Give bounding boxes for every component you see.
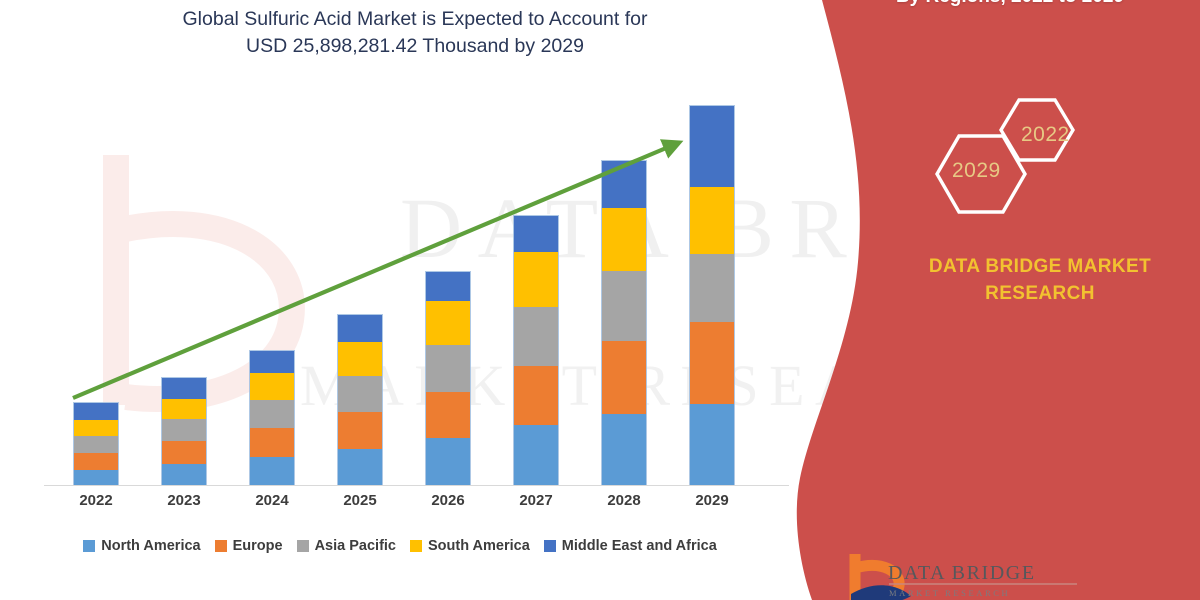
bar-2029 — [689, 105, 735, 485]
bar-segment-europe — [514, 366, 558, 425]
x-label-2025: 2025 — [320, 492, 400, 509]
legend-label: Middle East and Africa — [562, 538, 717, 554]
bar-segment-middle-east-and-africa — [74, 403, 118, 420]
bar-segment-asia-pacific — [250, 400, 294, 429]
bar-2024 — [249, 350, 295, 485]
legend-item-europe[interactable]: Europe — [215, 538, 283, 554]
x-label-2027: 2027 — [496, 492, 576, 509]
legend-label: Asia Pacific — [315, 538, 396, 554]
bar-2026 — [425, 271, 471, 485]
bar-segment-middle-east-and-africa — [426, 272, 470, 301]
hexagon-2022-label: 2022 — [1021, 123, 1070, 147]
legend-swatch-icon — [297, 540, 309, 552]
bar-segment-asia-pacific — [514, 307, 558, 366]
legend-swatch-icon — [83, 540, 95, 552]
legend-swatch-icon — [544, 540, 556, 552]
legend-swatch-icon — [215, 540, 227, 552]
bar-segment-north-america — [162, 464, 206, 485]
bar-segment-asia-pacific — [74, 436, 118, 453]
bar-segment-europe — [250, 428, 294, 457]
x-axis-labels: 20222023202420252026202720282029 — [0, 492, 800, 518]
bar-2028 — [601, 160, 647, 485]
x-label-2029: 2029 — [672, 492, 752, 509]
x-label-2022: 2022 — [56, 492, 136, 509]
bar-segment-south-america — [690, 187, 734, 255]
bar-2023 — [161, 377, 207, 485]
bar-segment-europe — [162, 441, 206, 463]
bar-segment-middle-east-and-africa — [162, 378, 206, 398]
market-report-infographic: DATA BRIDGE MARKET RESEARCH Global Sulfu… — [0, 0, 1200, 600]
x-label-2026: 2026 — [408, 492, 488, 509]
hexagon-badges: 2022 2029 — [925, 96, 1110, 226]
bar-segment-middle-east-and-africa — [514, 216, 558, 252]
page-title-line-1: Global Sulfuric Acid Market is Expected … — [70, 6, 760, 33]
bar-segment-south-america — [514, 252, 558, 307]
bar-segment-north-america — [514, 425, 558, 485]
x-label-2028: 2028 — [584, 492, 664, 509]
bar-2027 — [513, 215, 559, 485]
legend-label: North America — [101, 538, 200, 554]
stacked-bar-chart — [0, 100, 800, 490]
bar-segment-south-america — [338, 342, 382, 376]
panel-title: By Regions, 2022 to 2029 — [820, 0, 1200, 10]
bar-segment-south-america — [250, 373, 294, 400]
brand-name-line-1: DATA BRIDGE MARKET — [880, 253, 1200, 280]
bar-segment-asia-pacific — [602, 271, 646, 341]
legend-label: South America — [428, 538, 530, 554]
bar-segment-europe — [74, 453, 118, 470]
bar-segment-middle-east-and-africa — [602, 161, 646, 208]
corner-logo-text: DATA BRIDGE — [888, 562, 1036, 585]
legend-item-asia-pacific[interactable]: Asia Pacific — [297, 538, 396, 554]
bar-2025 — [337, 314, 383, 485]
growth-arrow-icon — [0, 100, 800, 490]
bar-segment-north-america — [338, 449, 382, 485]
bar-segment-north-america — [250, 457, 294, 485]
brand-name-line-2: RESEARCH — [880, 280, 1200, 307]
bar-segment-north-america — [74, 470, 118, 485]
bar-segment-north-america — [690, 404, 734, 485]
bar-segment-europe — [426, 392, 470, 438]
bar-segment-europe — [602, 341, 646, 414]
hexagon-2029-label: 2029 — [952, 159, 1001, 183]
x-label-2023: 2023 — [144, 492, 224, 509]
bar-segment-north-america — [426, 438, 470, 485]
bar-segment-middle-east-and-africa — [338, 315, 382, 342]
bar-segment-north-america — [602, 414, 646, 485]
bar-segment-europe — [338, 412, 382, 448]
bar-segment-south-america — [162, 399, 206, 419]
legend-item-south-america[interactable]: South America — [410, 538, 530, 554]
bar-segment-south-america — [74, 420, 118, 436]
chart-legend: North AmericaEuropeAsia PacificSouth Ame… — [0, 538, 800, 554]
page-title: Global Sulfuric Acid Market is Expected … — [70, 6, 760, 60]
bar-segment-asia-pacific — [690, 254, 734, 322]
bar-segment-asia-pacific — [162, 419, 206, 441]
legend-swatch-icon — [410, 540, 422, 552]
panel-title-line-1: By Regions, 2022 to 2029 — [820, 0, 1200, 10]
x-axis-line — [44, 485, 789, 486]
bar-segment-south-america — [602, 208, 646, 271]
bar-segment-middle-east-and-africa — [690, 106, 734, 187]
legend-item-north-america[interactable]: North America — [83, 538, 200, 554]
page-title-line-2: USD 25,898,281.42 Thousand by 2029 — [70, 33, 760, 60]
x-label-2024: 2024 — [232, 492, 312, 509]
bar-2022 — [73, 402, 119, 485]
bar-segment-asia-pacific — [338, 376, 382, 412]
bar-segment-asia-pacific — [426, 345, 470, 392]
brand-name: DATA BRIDGE MARKET RESEARCH — [880, 253, 1200, 307]
legend-item-middle-east-and-africa[interactable]: Middle East and Africa — [544, 538, 717, 554]
corner-logo-subtext: MARKET RESEARCH — [889, 588, 1010, 598]
bar-segment-south-america — [426, 301, 470, 345]
legend-label: Europe — [233, 538, 283, 554]
bar-segment-middle-east-and-africa — [250, 351, 294, 372]
bar-segment-europe — [690, 322, 734, 405]
